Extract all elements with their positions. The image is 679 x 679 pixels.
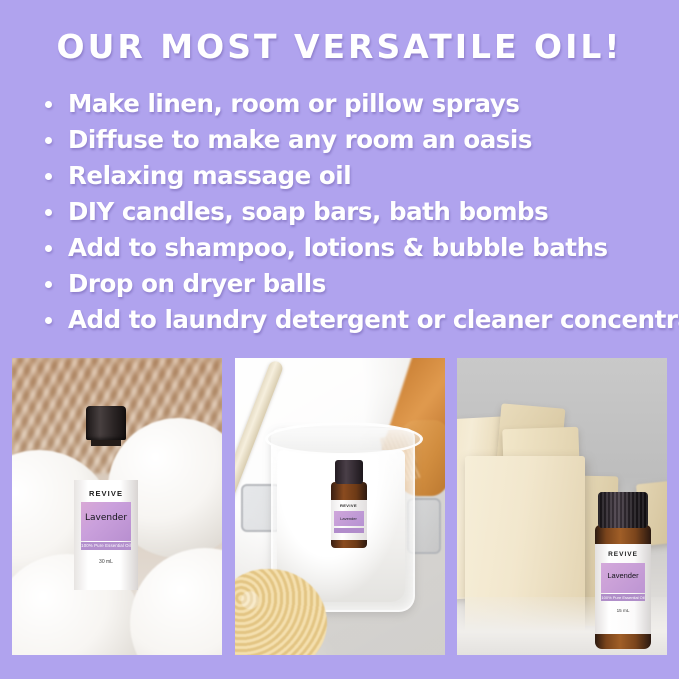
label-descriptor: 100% Pure Essential Oil (81, 542, 131, 550)
bullet-dot-icon (45, 281, 52, 288)
oil-bottle: REVIVE Lavender 100% Pure Essential Oil … (74, 406, 138, 634)
list-item: Add to laundry detergent or cleaner conc… (40, 302, 670, 338)
benefits-list: Make linen, room or pillow sprays Diffus… (40, 86, 670, 338)
label-scent: Lavender (81, 513, 131, 523)
bullet-dot-icon (45, 137, 52, 144)
label-brand: REVIVE (595, 551, 651, 558)
oil-bottle: REVIVE Lavender (331, 460, 367, 548)
list-item-label: Drop on dryer balls (68, 269, 326, 298)
bottle-cap (86, 406, 126, 440)
bullet-dot-icon (45, 245, 52, 252)
page-title: OUR MOST VERSATILE OIL! (0, 27, 679, 66)
bullet-dot-icon (45, 101, 52, 108)
dryer-ball (130, 548, 222, 655)
label-descriptor-strip: 100% Pure Essential Oil (601, 594, 645, 601)
label-scent: Lavender (334, 511, 364, 526)
bottle-label: REVIVE Lavender 100% Pure Essential Oil … (595, 544, 651, 634)
label-volume: 30 mL (74, 559, 138, 565)
list-item: Diffuse to make any room an oasis (40, 122, 670, 158)
list-item-label: Diffuse to make any room an oasis (68, 125, 532, 154)
oil-bottle: REVIVE Lavender 100% Pure Essential Oil … (595, 492, 651, 652)
list-item-label: DIY candles, soap bars, bath bombs (68, 197, 548, 226)
label-scent: Lavender (601, 571, 645, 580)
list-item-label: Relaxing massage oil (68, 161, 351, 190)
promo-graphic: OUR MOST VERSATILE OIL! Make linen, room… (0, 0, 679, 679)
label-volume: 15 mL (595, 608, 651, 613)
bottle-label: REVIVE Lavender (331, 500, 367, 540)
list-item: DIY candles, soap bars, bath bombs (40, 194, 670, 230)
list-item-label: Add to laundry detergent or cleaner conc… (68, 305, 679, 334)
list-item-label: Make linen, room or pillow sprays (68, 89, 520, 118)
list-item: Relaxing massage oil (40, 158, 670, 194)
jar-rim (265, 422, 423, 456)
bottle-cap (335, 460, 363, 484)
label-color-band: Lavender (81, 502, 131, 541)
label-color-band: Lavender (334, 511, 364, 526)
bullet-dot-icon (45, 317, 52, 324)
label-brand: REVIVE (74, 489, 138, 498)
label-brand: REVIVE (331, 503, 367, 508)
list-item: Add to shampoo, lotions & bubble baths (40, 230, 670, 266)
list-item: Drop on dryer balls (40, 266, 670, 302)
label-color-band: Lavender (601, 563, 645, 593)
list-item-label: Add to shampoo, lotions & bubble baths (68, 233, 608, 262)
label-descriptor: 100% Pure Essential Oil (601, 594, 645, 601)
photo-dryer-balls: REVIVE Lavender 100% Pure Essential Oil … (12, 358, 222, 655)
photo-bath-salts-jar: REVIVE Lavender (235, 358, 445, 655)
list-item: Make linen, room or pillow sprays (40, 86, 670, 122)
label-descriptor-strip (334, 528, 364, 533)
bottle-cap (598, 492, 648, 528)
bottle-label: REVIVE Lavender 100% Pure Essential Oil … (74, 480, 138, 590)
bullet-dot-icon (45, 173, 52, 180)
label-descriptor-strip: 100% Pure Essential Oil (81, 542, 131, 550)
photo-strip: REVIVE Lavender 100% Pure Essential Oil … (12, 358, 667, 655)
photo-soap-bars: REVIVE Lavender 100% Pure Essential Oil … (457, 358, 667, 655)
bullet-dot-icon (45, 209, 52, 216)
